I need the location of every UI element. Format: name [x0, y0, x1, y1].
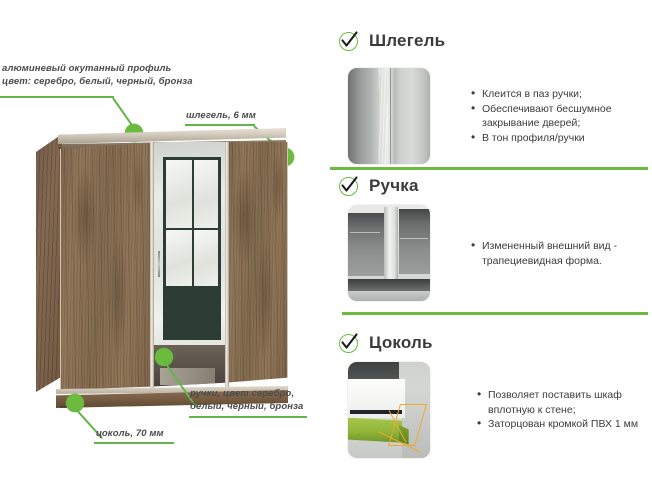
callout-handles-rule: [189, 416, 307, 418]
wardrobe-side-panel: [36, 134, 62, 392]
callout-plinth-rule: [94, 442, 174, 444]
wardrobe-door-left: [60, 142, 154, 390]
feature-header-cokol: Цоколь: [338, 332, 433, 354]
slide-root: алюминевый окутанный профиль цвет: сереб…: [0, 0, 652, 500]
feature-title-ruchka: Ручка: [369, 176, 419, 196]
bullet-item: Заторцован кромкой ПВХ 1 мм: [476, 417, 652, 432]
callout-profile-line2: цвет: серебро, белый, черный, бронза: [2, 76, 193, 89]
feature-header-ruchka: Ручка: [338, 175, 419, 197]
mirror-reflection-rug: [160, 368, 215, 385]
check-circle-icon: [338, 175, 360, 197]
feature-title-shlegel: Шлегель: [369, 31, 445, 51]
section-divider-1: [330, 167, 648, 170]
feature-bullets-cokol: Позволяет поставить шкаф вплотную к стен…: [476, 388, 652, 432]
callout-profile-line1: алюминевый окутанный профиль: [2, 63, 171, 76]
feature-title-cokol: Цоколь: [369, 333, 433, 353]
feature-photo-cokol: [348, 362, 430, 458]
bullet-item: Клеится в паз ручки;: [470, 87, 646, 102]
section-divider-2: [342, 312, 648, 315]
callout-handles-line2: белый, черный, бронза: [190, 401, 303, 414]
feature-photo-shlegel: [348, 68, 430, 164]
wardrobe-doors: [60, 142, 286, 390]
wardrobe-door-right: [228, 142, 288, 390]
bullet-item: Позволяет поставить шкаф вплотную к стен…: [476, 388, 652, 417]
feature-bullets-shlegel: Клеится в паз ручки; Обеспечивают бесшум…: [470, 87, 646, 145]
bullet-item: В тон профиля/ручки: [470, 131, 646, 146]
features-panel: Шлегель Клеится в паз ручки; Обеспечиваю…: [330, 0, 652, 500]
callout-plinth-line1: цоколь, 70 мм: [96, 428, 164, 441]
product-illustration-panel: алюминевый окутанный профиль цвет: сереб…: [0, 0, 330, 500]
feature-header-shlegel: Шлегель: [338, 30, 445, 52]
feature-photo-ruchka: [348, 205, 430, 301]
feature-bullets-ruchka: Измененный внешний вид - трапециевидная …: [470, 239, 650, 268]
handle-profile-left: [150, 142, 154, 390]
mirror-reflection-window: [163, 157, 221, 341]
handle-profile-right: [225, 142, 229, 390]
bullet-item: Обеспечивают бесшумное закрывание дверей…: [470, 102, 646, 131]
mirror-door-handle: [158, 251, 160, 277]
bullet-item: Измененный внешний вид - трапециевидная …: [470, 239, 650, 268]
check-circle-icon: [338, 332, 360, 354]
callout-handles-line1: ручки, цвет серебро,: [190, 388, 294, 401]
check-circle-icon: [338, 30, 360, 52]
callout-profile-rule: [0, 96, 114, 98]
